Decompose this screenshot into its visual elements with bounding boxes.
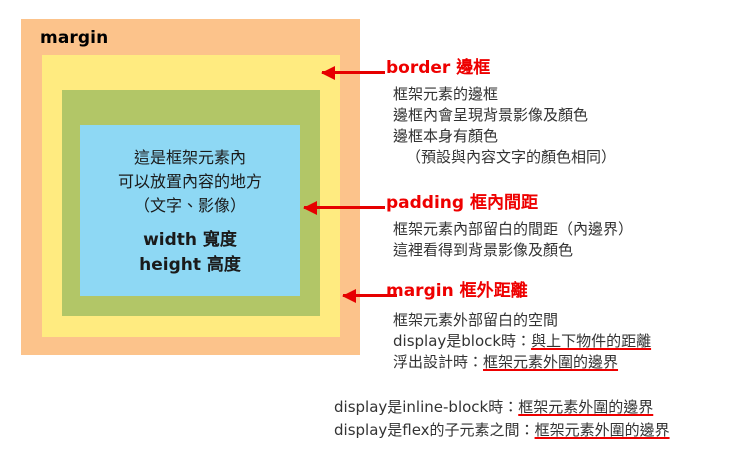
annotation-line: 邊框內會呈現背景影像及顏色: [393, 105, 616, 126]
footnote-emphasis: 框架元素外圍的邊界: [535, 421, 670, 439]
padding-annotation-section: padding 框內間距 框架元素內部留白的間距（內邊界） 這裡看得到背景影像及…: [386, 193, 633, 261]
padding-annotation-title: padding 框內間距: [386, 193, 633, 213]
padding-annotation-body: 框架元素內部留白的間距（內邊界） 這裡看得到背景影像及顏色: [386, 219, 633, 261]
content-text-line: （文字、影像）: [134, 194, 246, 218]
margin-layer-label: margin: [40, 28, 108, 48]
annotation-line: 框架元素內部留白的間距（內邊界）: [393, 219, 633, 240]
margin-annotation-body: 框架元素外部留白的空間 display是block時：與上下物件的距離 浮出設計…: [386, 310, 651, 373]
annotation-line: （預設與內容文字的顏色相同）: [393, 147, 616, 168]
footnote-prefix: display是inline-block時：: [334, 398, 518, 416]
annotation-prefix: 浮出設計時：: [393, 353, 483, 371]
annotation-line: 這裡看得到背景影像及顏色: [393, 240, 633, 261]
annotation-line-float: 浮出設計時：框架元素外圍的邊界: [393, 352, 651, 373]
content-width-label: width 寬度: [143, 228, 237, 253]
footnote-line-inline-block: display是inline-block時：框架元素外圍的邊界: [334, 396, 670, 419]
margin-footnotes: display是inline-block時：框架元素外圍的邊界 display是…: [334, 396, 670, 442]
border-annotation-body: 框架元素的邊框 邊框內會呈現背景影像及顏色 邊框本身有顏色 （預設與內容文字的顏…: [386, 84, 616, 168]
border-annotation-title: border 邊框: [386, 58, 616, 78]
box-model-diagram: margin border padding 這是框架元素內 可以放置內容的地方 …: [21, 19, 360, 355]
content-layer: 這是框架元素內 可以放置內容的地方 （文字、影像） width 寬度 heigh…: [80, 125, 300, 296]
margin-annotation-section: margin 框外距離 框架元素外部留白的空間 display是block時：與…: [386, 281, 651, 373]
annotation-emphasis: 與上下物件的距離: [531, 332, 651, 350]
margin-annotation-title: margin 框外距離: [386, 281, 651, 301]
footnote-prefix: display是flex的子元素之間：: [334, 421, 535, 439]
annotation-line: 框架元素的邊框: [393, 84, 616, 105]
content-text-line: 可以放置內容的地方: [118, 170, 262, 194]
footnote-line-flex: display是flex的子元素之間：框架元素外圍的邊界: [334, 419, 670, 442]
annotation-prefix: display是block時：: [393, 332, 531, 350]
annotation-line-block: display是block時：與上下物件的距離: [393, 331, 651, 352]
border-callout-arrow-icon: [322, 71, 385, 74]
annotation-line: 邊框本身有顏色: [393, 126, 616, 147]
annotation-emphasis: 框架元素外圍的邊界: [483, 353, 618, 371]
content-height-label: height 高度: [139, 253, 241, 278]
footnote-emphasis: 框架元素外圍的邊界: [518, 398, 653, 416]
content-text-line: 這是框架元素內: [134, 146, 246, 170]
border-annotation-section: border 邊框 框架元素的邊框 邊框內會呈現背景影像及顏色 邊框本身有顏色 …: [386, 58, 616, 168]
padding-callout-arrow-icon: [304, 206, 385, 209]
annotation-line: 框架元素外部留白的空間: [393, 310, 651, 331]
